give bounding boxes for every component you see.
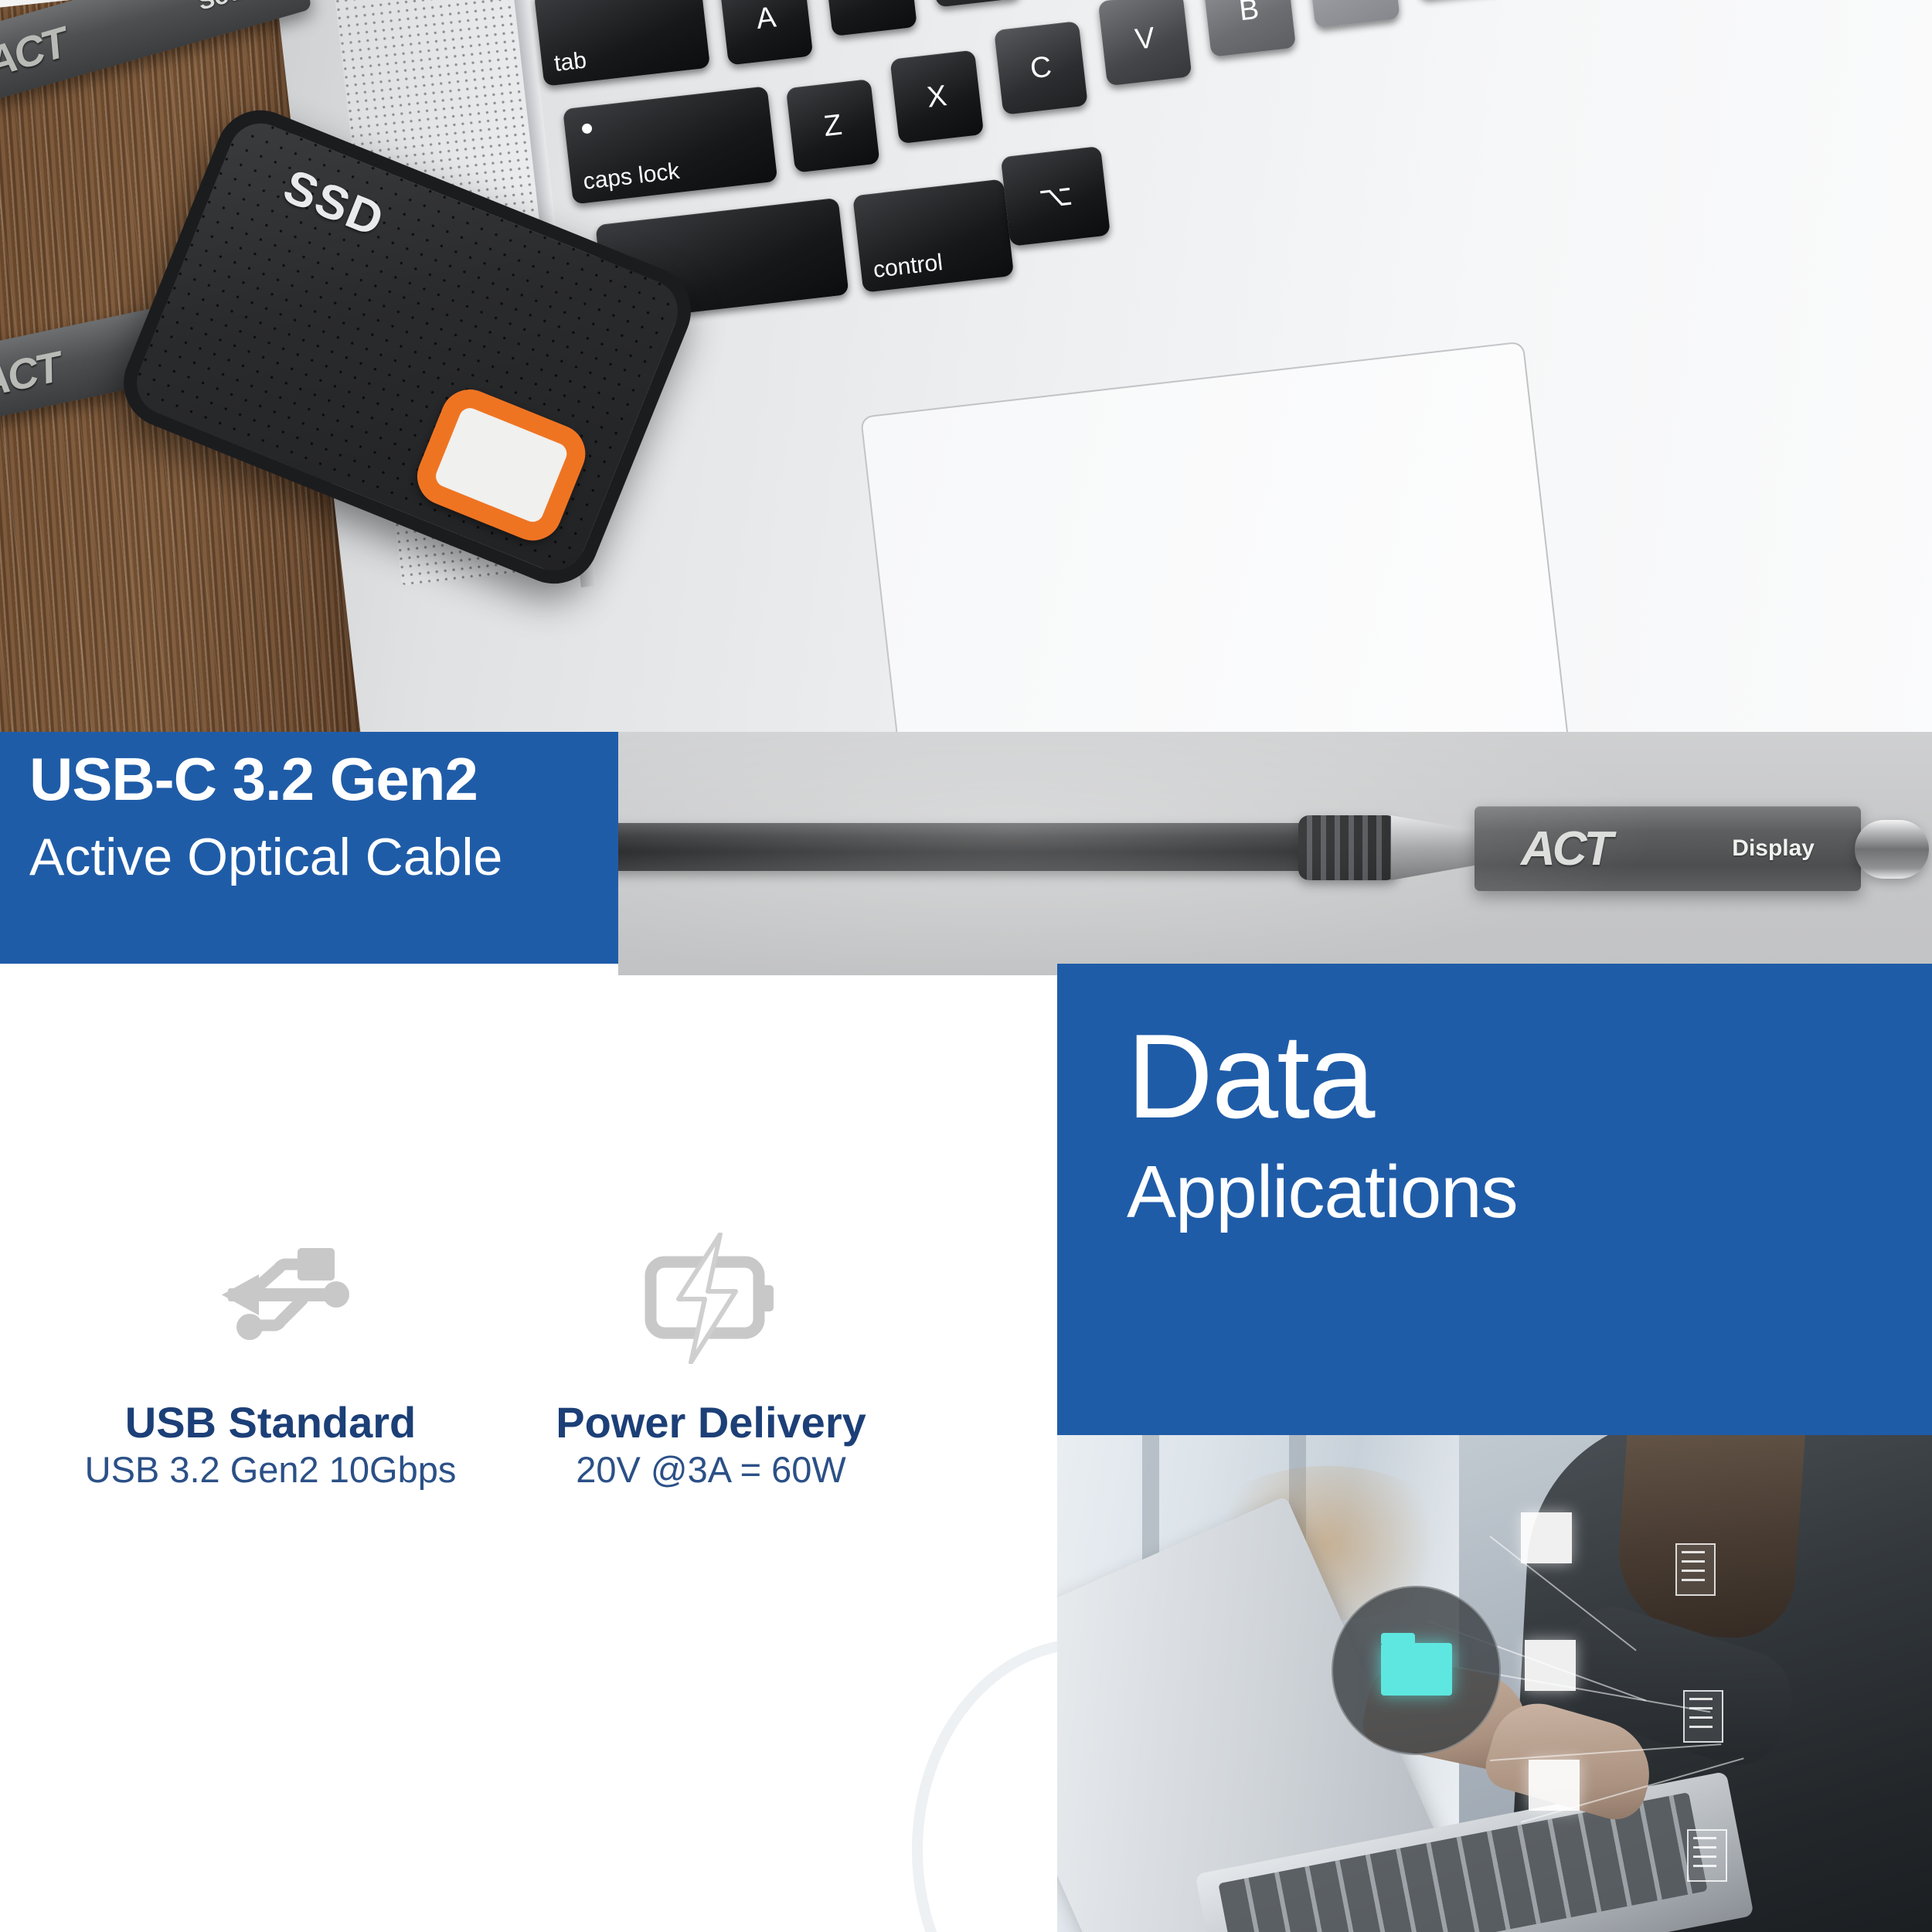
feature-subtitle: 20V @3A = 60W bbox=[495, 1451, 927, 1488]
keyboard-key-s: S bbox=[823, 0, 917, 36]
keyboard-key-a: A bbox=[719, 0, 814, 66]
keyboard-key-tab: tab bbox=[534, 0, 710, 87]
keyboard-key-c: C bbox=[994, 21, 1088, 115]
feature-list: USB Standard USB 3.2 Gen2 10Gbps Power D… bbox=[0, 1236, 1057, 1546]
keyboard-key-d: D bbox=[927, 0, 1022, 8]
keyboard-key-caps-lock: caps lock bbox=[563, 86, 777, 204]
application-panel: Data Applications bbox=[1057, 964, 1932, 1435]
act-brand-logo: ACT bbox=[0, 342, 64, 406]
product-subtitle: Active Optical Cable bbox=[29, 831, 502, 883]
keyboard-key-control: control bbox=[852, 179, 1014, 292]
keyboard-key-n: N bbox=[1306, 0, 1400, 28]
connector-source-label: Source bbox=[195, 0, 281, 16]
ssd-label: SSD bbox=[276, 159, 392, 249]
keyboard-key-x: X bbox=[889, 50, 984, 145]
panel-heading: Data bbox=[1127, 1016, 1373, 1136]
document-icon bbox=[1683, 1690, 1723, 1743]
product-infographic: `12QWERTYUItabASDFGHJcaps lockZXCVBNMshi… bbox=[0, 0, 1932, 1932]
hud-node-square bbox=[1525, 1640, 1576, 1691]
application-photo bbox=[1057, 1435, 1932, 1932]
feature-power-delivery: Power Delivery 20V @3A = 60W bbox=[495, 1236, 927, 1488]
cable-product-strip: ACT Display bbox=[618, 732, 1932, 975]
document-icon bbox=[1675, 1543, 1716, 1596]
act-brand-logo: ACT bbox=[0, 18, 71, 87]
feature-title: USB Standard bbox=[54, 1400, 487, 1446]
usb-trident-icon bbox=[54, 1236, 487, 1360]
keyboard-key-⌥: ⌥ bbox=[1001, 146, 1111, 247]
usb-c-connector-housing: ACT Display bbox=[1475, 806, 1861, 891]
hud-node-square bbox=[1521, 1512, 1572, 1563]
cable-metal-cone-icon bbox=[1391, 815, 1490, 880]
battery-charging-icon bbox=[495, 1236, 927, 1360]
feature-subtitle: USB 3.2 Gen2 10Gbps bbox=[54, 1451, 487, 1488]
panel-subheading: Applications bbox=[1127, 1155, 1518, 1230]
product-title-banner: USB-C 3.2 Gen2 Active Optical Cable bbox=[0, 732, 618, 964]
caps-lock-indicator-icon bbox=[581, 123, 592, 134]
usb-c-plug-tip-icon bbox=[1855, 820, 1929, 879]
hud-folder-badge bbox=[1332, 1586, 1501, 1755]
folder-icon bbox=[1381, 1643, 1452, 1696]
document-icon bbox=[1687, 1829, 1727, 1882]
act-brand-logo: ACT bbox=[1521, 821, 1610, 876]
keyboard-key-b: B bbox=[1202, 0, 1296, 57]
cable-wire bbox=[618, 823, 1399, 871]
connector-display-label: Display bbox=[1732, 835, 1815, 862]
product-photo-top: `12QWERTYUItabASDFGHJcaps lockZXCVBNMshi… bbox=[0, 0, 1932, 733]
cable-strain-relief bbox=[1298, 815, 1397, 880]
keyboard-key-v: V bbox=[1098, 0, 1192, 86]
hud-node-square bbox=[1529, 1760, 1580, 1811]
product-title: USB-C 3.2 Gen2 bbox=[29, 749, 478, 809]
ssd-lanyard-loop-icon bbox=[409, 381, 594, 549]
keyboard-key-z: Z bbox=[786, 79, 880, 173]
feature-usb-standard: USB Standard USB 3.2 Gen2 10Gbps bbox=[54, 1236, 487, 1488]
feature-title: Power Delivery bbox=[495, 1400, 927, 1446]
